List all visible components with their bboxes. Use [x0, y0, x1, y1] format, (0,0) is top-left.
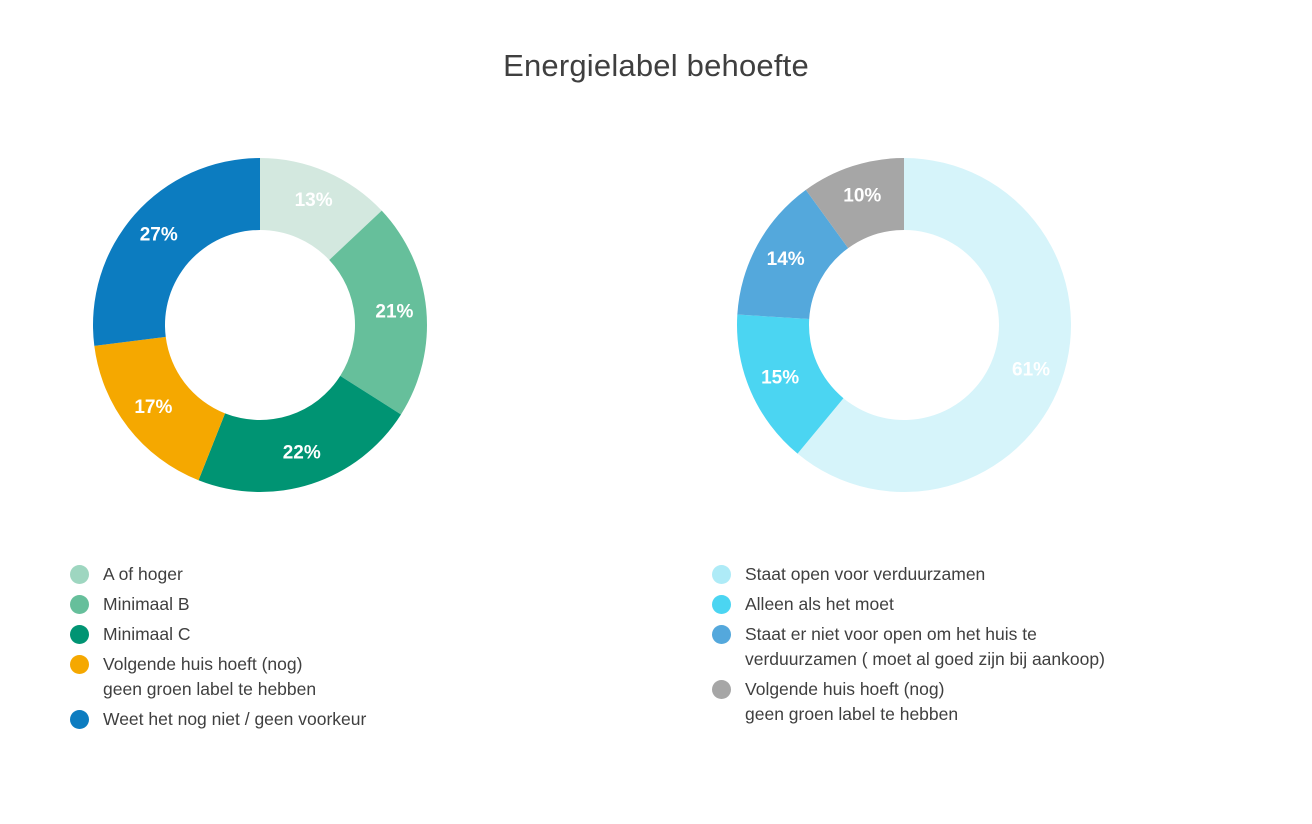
- legend-item-right-3[interactable]: Volgende huis hoeft (nog) geen groen lab…: [712, 677, 1105, 727]
- legend-swatch-icon: [70, 625, 89, 644]
- legend-item-left-3[interactable]: Volgende huis hoeft (nog) geen groen lab…: [70, 652, 366, 702]
- donut-chart-left: 13%21%22%17%27%: [90, 150, 490, 530]
- legend-item-right-1[interactable]: Alleen als het moet: [712, 592, 1105, 617]
- donut-svg-left: 13%21%22%17%27%: [90, 150, 490, 530]
- legend-swatch-icon: [70, 655, 89, 674]
- legend-item-label: A of hoger: [103, 562, 183, 587]
- donut-slice-label-left-4: 27%: [140, 225, 178, 246]
- legend-swatch-icon: [712, 595, 731, 614]
- legend-item-label: Minimaal C: [103, 622, 191, 647]
- page-title: Energielabel behoefte: [0, 48, 1312, 84]
- donut-slices-left: [93, 158, 427, 492]
- donut-chart-right: 61%15%14%10%: [734, 150, 1134, 530]
- legend-item-label: Staat er niet voor open om het huis te v…: [745, 622, 1105, 672]
- donut-slice-label-right-1: 15%: [761, 368, 799, 389]
- donut-slice-label-right-0: 61%: [1012, 360, 1050, 381]
- legend-swatch-icon: [70, 710, 89, 729]
- legend-item-left-2[interactable]: Minimaal C: [70, 622, 366, 647]
- legend-item-left-4[interactable]: Weet het nog niet / geen voorkeur: [70, 707, 366, 732]
- donut-slice-label-right-2: 14%: [767, 249, 805, 270]
- legend-swatch-icon: [712, 565, 731, 584]
- legend-item-label: Weet het nog niet / geen voorkeur: [103, 707, 366, 732]
- legend-item-left-1[interactable]: Minimaal B: [70, 592, 366, 617]
- legend-item-label: Staat open voor verduurzamen: [745, 562, 985, 587]
- legend-item-right-2[interactable]: Staat er niet voor open om het huis te v…: [712, 622, 1105, 672]
- chart-panel-left: 13%21%22%17%27% A of hogerMinimaal BMini…: [64, 150, 684, 530]
- legend-left: A of hogerMinimaal BMinimaal CVolgende h…: [70, 562, 366, 737]
- legend-item-label: Minimaal B: [103, 592, 190, 617]
- donut-slice-label-left-1: 21%: [375, 301, 413, 322]
- donut-slice-left-4[interactable]: [93, 158, 260, 346]
- legend-swatch-icon: [70, 565, 89, 584]
- legend-swatch-icon: [712, 680, 731, 699]
- chart-panel-right: 61%15%14%10% Staat open voor verduurzame…: [712, 150, 1292, 530]
- donut-slice-label-left-2: 22%: [283, 442, 321, 463]
- donut-slice-label-left-3: 17%: [134, 397, 172, 418]
- legend-swatch-icon: [70, 595, 89, 614]
- donut-svg-right: 61%15%14%10%: [734, 150, 1134, 530]
- legend-item-left-0[interactable]: A of hoger: [70, 562, 366, 587]
- legend-item-label: Volgende huis hoeft (nog) geen groen lab…: [103, 652, 316, 702]
- legend-item-right-0[interactable]: Staat open voor verduurzamen: [712, 562, 1105, 587]
- donut-slice-label-left-0: 13%: [295, 190, 333, 211]
- legend-item-label: Volgende huis hoeft (nog) geen groen lab…: [745, 677, 958, 727]
- donut-slices-right: [737, 158, 1071, 492]
- legend-item-label: Alleen als het moet: [745, 592, 894, 617]
- legend-swatch-icon: [712, 625, 731, 644]
- donut-slice-label-right-3: 10%: [843, 186, 881, 207]
- legend-right: Staat open voor verduurzamenAlleen als h…: [712, 562, 1105, 732]
